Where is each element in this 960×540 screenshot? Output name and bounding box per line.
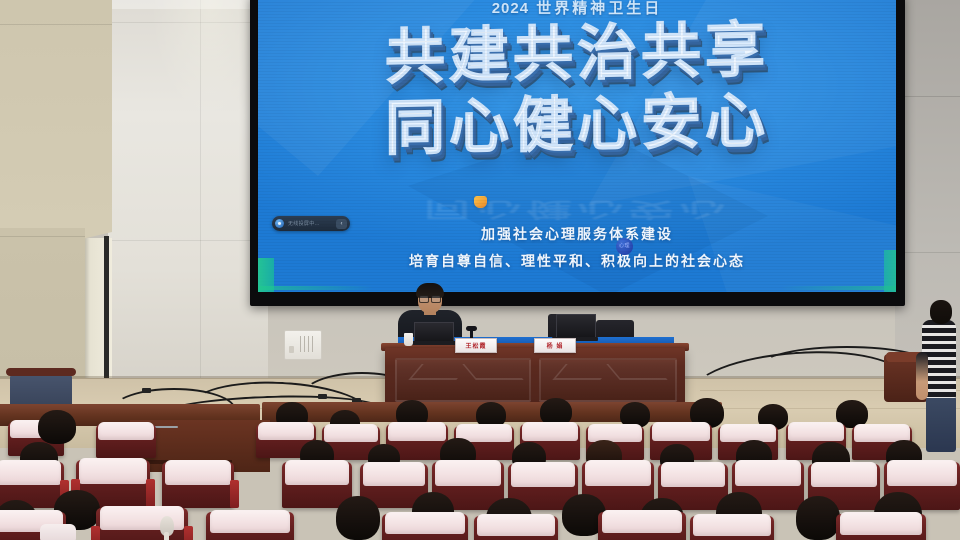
audience-seat (598, 512, 686, 540)
audience-head (336, 496, 380, 540)
audience-shoulder (40, 524, 76, 540)
seat-cover (735, 460, 801, 486)
cable-connector (318, 394, 327, 399)
audience-seat (474, 516, 558, 540)
side-door-frame (104, 236, 109, 382)
seat-cover (477, 514, 554, 536)
standing-person-arm (916, 352, 928, 400)
standing-person-head (930, 300, 952, 324)
audience-arm (164, 532, 169, 540)
speaker-laptop-base (410, 341, 456, 345)
auditorium-photo: 2024 世界精神卫生日 共建共治共享 同心健心安心 同心健心安心 加强社会心理… (0, 0, 960, 540)
seat-cover (98, 422, 153, 440)
seat-armrest (184, 526, 193, 540)
seat-cover (210, 510, 291, 533)
wall-seam (108, 240, 268, 241)
seat-cover (602, 510, 683, 533)
seat-cover (363, 462, 426, 486)
seat-cover (652, 422, 709, 441)
nameplate-right: 杨 娟 (534, 338, 576, 353)
seat-cover (385, 512, 464, 534)
seat-cover (788, 422, 843, 441)
seat-cover (511, 462, 575, 487)
seat-cover (588, 424, 641, 442)
seat-cover (388, 422, 445, 441)
led-presentation-screen: 2024 世界精神卫生日 共建共治共享 同心健心安心 同心健心安心 加强社会心理… (258, 0, 896, 292)
seat-armrest (91, 526, 100, 540)
audience-seat (690, 516, 774, 540)
audience-seat (206, 512, 294, 540)
seat-cover (324, 424, 377, 442)
wall-control-panel-vents (300, 336, 314, 352)
microphone-head (466, 326, 477, 331)
wall-seam (0, 24, 112, 25)
audience-area (0, 404, 960, 540)
seat-armrest (230, 480, 239, 508)
nameplate-left: 王松霞 (455, 338, 497, 353)
seat-cover (165, 460, 231, 485)
led-scanline-overlay (258, 0, 896, 292)
seat-cover (435, 460, 501, 486)
wall-control-panel-switch (289, 346, 294, 353)
audience-seat (96, 508, 188, 540)
audience-seat (96, 424, 156, 458)
audience-seat (162, 462, 234, 508)
seat-cover (522, 422, 577, 441)
seat-cover (585, 460, 651, 486)
podium-table (385, 348, 685, 410)
side-chair-frame (6, 368, 76, 376)
wall-seam (0, 236, 85, 237)
seat-cover (258, 422, 313, 440)
audience-seat (382, 514, 468, 540)
seat-cover (887, 460, 957, 486)
cable-connector (142, 388, 151, 393)
audience-head (38, 410, 76, 444)
speaker-eyeglasses (419, 295, 441, 301)
seat-cover (811, 462, 877, 487)
led-green-edge-artifact (258, 286, 896, 290)
seat-cover (0, 460, 61, 485)
paper-cup (404, 333, 413, 346)
seat-cover (693, 514, 770, 536)
seat-cover (79, 458, 147, 484)
audience-seat (836, 514, 926, 540)
seat-cover (285, 460, 349, 485)
seat-armrest (146, 479, 155, 508)
seat-cover (840, 512, 923, 535)
audience-head (796, 496, 840, 540)
seat-cover (661, 462, 725, 487)
